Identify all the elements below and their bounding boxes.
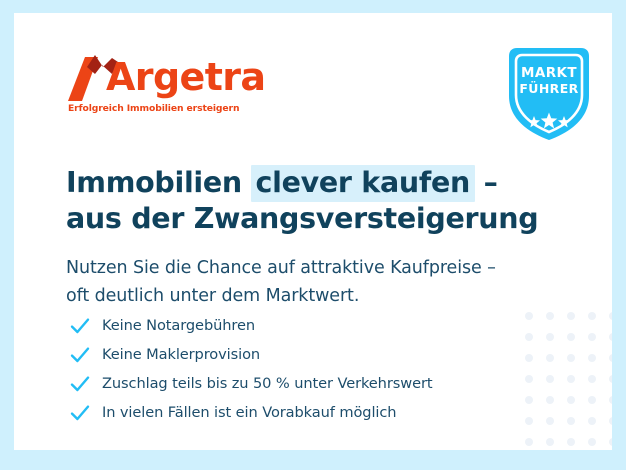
argetra-logo[interactable]: Argetra Erfolgreich Immobilien ersteiger… — [68, 53, 268, 121]
dot-decoration — [588, 312, 596, 320]
headline-line-1: Immobilien clever kaufen – — [66, 165, 566, 201]
logo-wordmark: Argetra — [106, 53, 265, 101]
dot-decoration — [546, 438, 554, 446]
dot-decoration — [525, 354, 533, 362]
dot-decoration — [609, 417, 613, 425]
dot-decoration — [609, 312, 613, 320]
dot-decoration — [525, 375, 533, 383]
dot-decoration — [525, 333, 533, 341]
shield-badge-icon — [501, 44, 597, 144]
dot-decoration — [567, 375, 575, 383]
check-icon — [69, 344, 91, 366]
dot-decoration — [525, 438, 533, 446]
dot-decoration — [546, 312, 554, 320]
dot-decoration — [546, 396, 554, 404]
dot-decoration — [588, 438, 596, 446]
dot-decoration — [546, 333, 554, 341]
dot-decoration — [567, 438, 575, 446]
headline: Immobilien clever kaufen – aus der Zwang… — [66, 165, 566, 237]
dot-decoration — [588, 396, 596, 404]
dot-decoration — [546, 417, 554, 425]
check-icon — [69, 402, 91, 424]
checklist-item: Keine Maklerprovision — [69, 340, 509, 369]
logo-tagline: Erfolgreich Immobilien ersteigern — [68, 103, 239, 114]
dot-decoration — [588, 333, 596, 341]
dot-decoration — [567, 312, 575, 320]
dot-decoration — [546, 354, 554, 362]
checklist-item-label: Zuschlag teils bis zu 50 % unter Verkehr… — [102, 374, 432, 394]
dot-decoration — [567, 333, 575, 341]
dot-decoration — [567, 354, 575, 362]
dot-grid-decoration — [518, 305, 612, 450]
market-leader-badge: MARKT FÜHRER — [501, 44, 597, 144]
checklist-item: Zuschlag teils bis zu 50 % unter Verkehr… — [69, 369, 509, 398]
headline-text-before: Immobilien — [66, 166, 252, 199]
dot-decoration — [609, 396, 613, 404]
dot-decoration — [588, 354, 596, 362]
dot-decoration — [609, 375, 613, 383]
checklist-item: In vielen Fällen ist ein Vorabkauf mögli… — [69, 398, 509, 427]
promo-banner: Argetra Erfolgreich Immobilien ersteiger… — [0, 0, 626, 470]
benefits-checklist: Keine NotargebührenKeine Maklerprovision… — [69, 311, 509, 427]
headline-highlight: clever kaufen — [251, 165, 475, 202]
checklist-item-label: In vielen Fällen ist ein Vorabkauf mögli… — [102, 403, 396, 423]
check-icon — [69, 315, 91, 337]
dot-decoration — [525, 396, 533, 404]
dot-decoration — [525, 312, 533, 320]
dot-decoration — [609, 438, 613, 446]
dot-decoration — [609, 354, 613, 362]
subheading-line-1: Nutzen Sie die Chance auf attraktive Kau… — [66, 254, 586, 282]
dot-decoration — [567, 396, 575, 404]
banner-card: Argetra Erfolgreich Immobilien ersteiger… — [14, 13, 612, 450]
subheading: Nutzen Sie die Chance auf attraktive Kau… — [66, 254, 586, 310]
dot-decoration — [546, 375, 554, 383]
dot-decoration — [525, 417, 533, 425]
dot-decoration — [588, 375, 596, 383]
dot-decoration — [609, 333, 613, 341]
subheading-line-2: oft deutlich unter dem Marktwert. — [66, 282, 586, 310]
checklist-item: Keine Notargebühren — [69, 311, 509, 340]
checklist-item-label: Keine Notargebühren — [102, 316, 255, 336]
dot-decoration — [588, 417, 596, 425]
checklist-item-label: Keine Maklerprovision — [102, 345, 260, 365]
headline-text-after: – — [474, 166, 498, 199]
check-icon — [69, 373, 91, 395]
headline-line-2: aus der Zwangsversteigerung — [66, 201, 566, 237]
dot-decoration — [567, 417, 575, 425]
